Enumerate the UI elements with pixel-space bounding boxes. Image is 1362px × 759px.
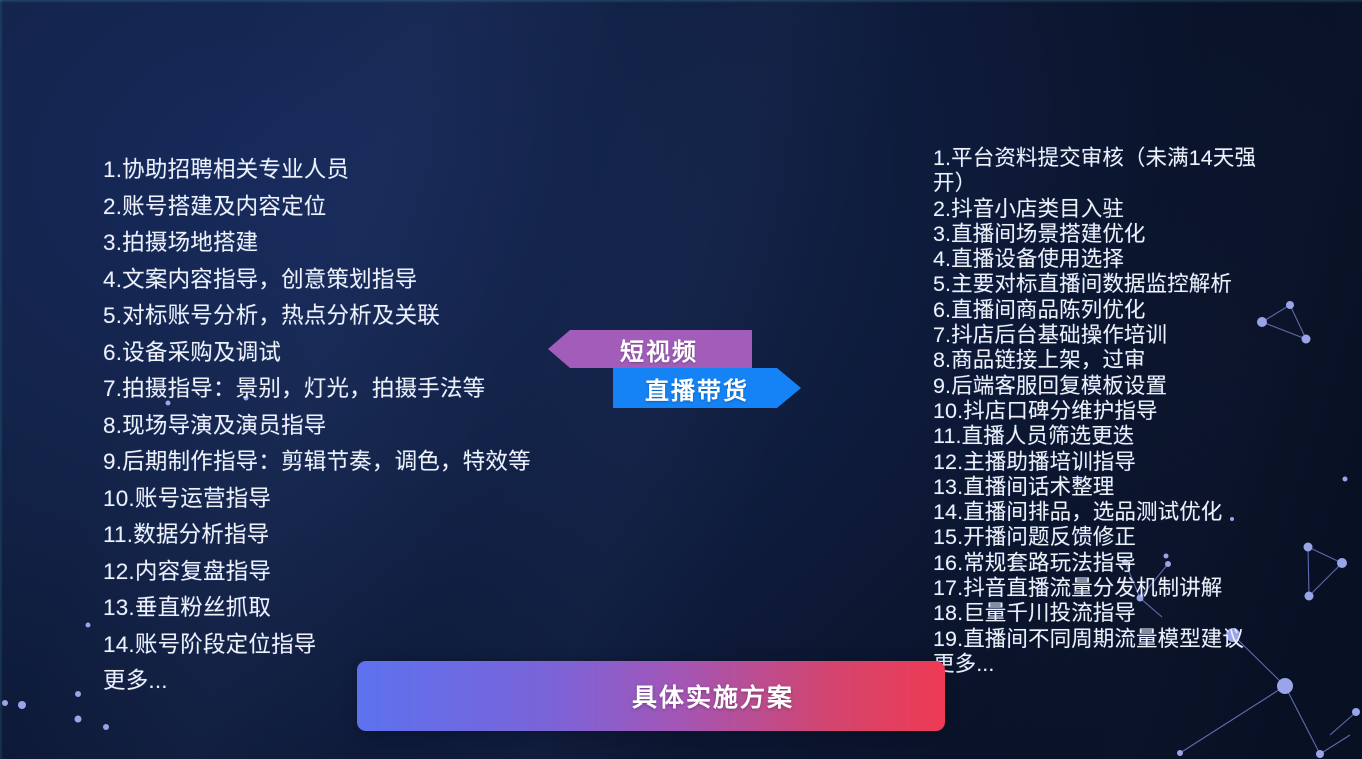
implementation-plan-banner[interactable]: 具体实施方案 [357, 661, 945, 731]
list-item: 2.账号搭建及内容定位 [103, 189, 573, 226]
list-item: 12.主播助播培训指导 [933, 450, 1273, 475]
list-item: 12.内容复盘指导 [103, 554, 573, 591]
list-item: 4.文案内容指导，创意策划指导 [103, 262, 573, 299]
slide-canvas: 1.协助招聘相关专业人员 2.账号搭建及内容定位 3.拍摄场地搭建 4.文案内容… [0, 0, 1362, 759]
ribbon-short-video[interactable]: 短视频 [548, 330, 752, 368]
ribbon-live-commerce-label: 直播带货 [645, 371, 749, 406]
list-item: 17.抖音直播流量分发机制讲解 [933, 576, 1273, 601]
implementation-plan-label: 具体实施方案 [632, 678, 794, 714]
list-item: 11.直播人员筛选更迭 [933, 424, 1273, 449]
list-item: 4.直播设备使用选择 [933, 247, 1273, 272]
ribbon-live-commerce[interactable]: 直播带货 [613, 368, 801, 408]
list-item: 6.设备采购及调试 [103, 335, 573, 372]
list-item: 15.开播问题反馈修正 [933, 525, 1273, 550]
list-item: 10.账号运营指导 [103, 481, 573, 518]
left-service-list: 1.协助招聘相关专业人员 2.账号搭建及内容定位 3.拍摄场地搭建 4.文案内容… [103, 152, 573, 700]
list-item: 6.直播间商品陈列优化 [933, 298, 1273, 323]
right-service-list: 1.平台资料提交审核（未满14天强开） 2.抖音小店类目入驻 3.直播间场景搭建… [933, 146, 1273, 677]
list-item: 13.垂直粉丝抓取 [103, 590, 573, 627]
list-item-more: 更多... [933, 652, 1273, 677]
list-item: 2.抖音小店类目入驻 [933, 197, 1273, 222]
list-item: 11.数据分析指导 [103, 517, 573, 554]
list-item: 16.常规套路玩法指导 [933, 551, 1273, 576]
list-item: 5.主要对标直播间数据监控解析 [933, 272, 1273, 297]
list-item: 19.直播间不同周期流量模型建议 [933, 627, 1273, 652]
list-item: 13.直播间话术整理 [933, 475, 1273, 500]
list-item: 8.商品链接上架，过审 [933, 348, 1273, 373]
list-item: 9.后端客服回复模板设置 [933, 374, 1273, 399]
list-item: 10.抖店口碑分维护指导 [933, 399, 1273, 424]
list-item: 8.现场导演及演员指导 [103, 408, 573, 445]
list-item: 9.后期制作指导：剪辑节奏，调色，特效等 [103, 444, 573, 481]
list-item: 1.平台资料提交审核（未满14天强开） [933, 146, 1273, 197]
list-item: 1.协助招聘相关专业人员 [103, 152, 573, 189]
list-item: 14.直播间排品，选品测试优化 [933, 500, 1273, 525]
ribbon-short-video-label: 短视频 [620, 332, 698, 367]
list-item: 14.账号阶段定位指导 [103, 627, 573, 664]
list-item: 3.直播间场景搭建优化 [933, 222, 1273, 247]
list-item: 18.巨量千川投流指导 [933, 601, 1273, 626]
list-item: 5.对标账号分析，热点分析及关联 [103, 298, 573, 335]
list-item: 7.拍摄指导：景别，灯光，拍摄手法等 [103, 371, 573, 408]
list-item: 3.拍摄场地搭建 [103, 225, 573, 262]
list-item: 7.抖店后台基础操作培训 [933, 323, 1273, 348]
